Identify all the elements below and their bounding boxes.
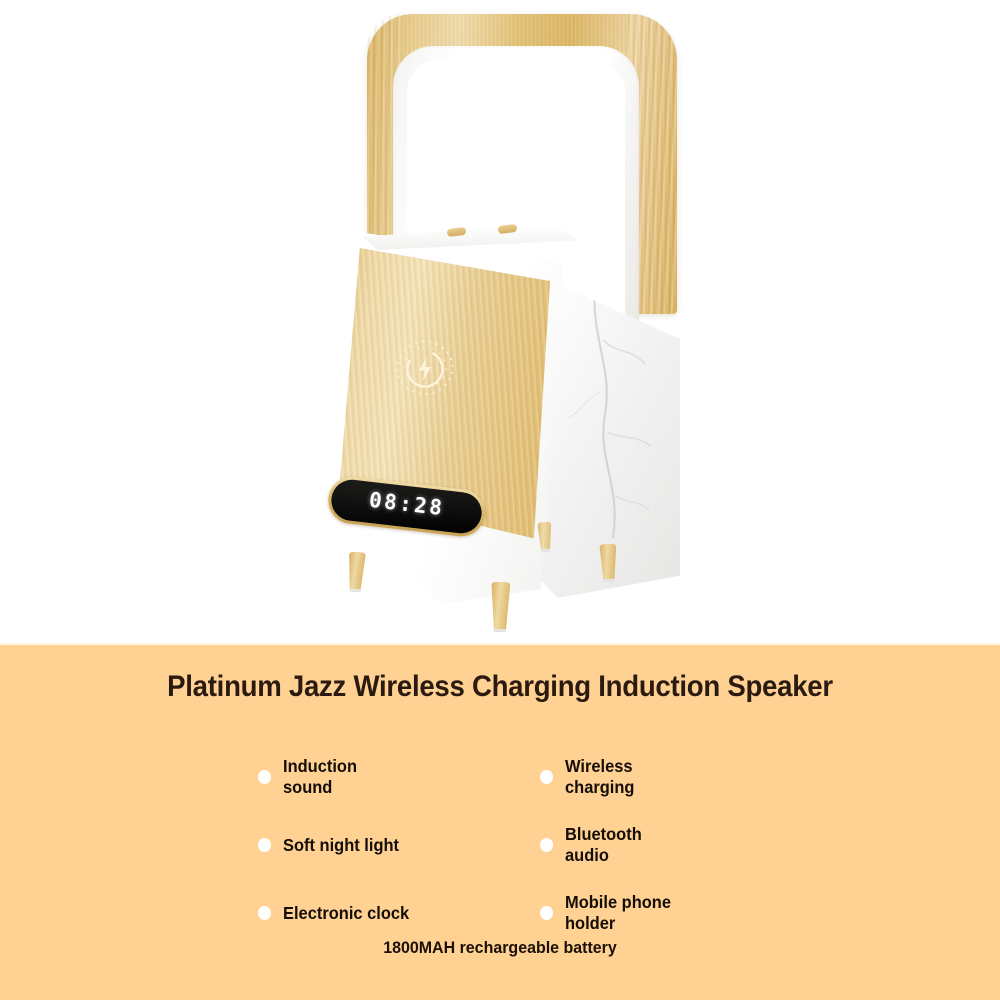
battery-note: 1800MAH rechargeable battery — [30, 938, 970, 958]
bullet-icon — [258, 770, 271, 784]
leg-front-center — [491, 582, 511, 632]
feature-item-soft-night-light: Soft night light — [258, 811, 536, 879]
feature-label: Mobile phone holder — [565, 892, 671, 933]
feature-item-mobile-phone-holder: Mobile phone holder — [540, 879, 818, 947]
bullet-icon — [258, 838, 271, 852]
feature-item-induction-sound: Induction sound — [258, 743, 536, 811]
product-listing-image: 08:28 Platinum Jazz Wireless Charging In… — [0, 0, 1000, 1000]
feature-item-wireless-charging: Wireless charging — [540, 743, 818, 811]
feature-label: Induction sound — [283, 756, 357, 797]
leg-front-left — [347, 552, 366, 593]
feature-item-bluetooth-audio: Bluetooth audio — [540, 811, 818, 879]
bullet-icon — [540, 906, 553, 920]
feature-item-electronic-clock: Electronic clock — [258, 879, 536, 947]
feature-label: Wireless charging — [565, 756, 634, 797]
bullet-icon — [540, 838, 553, 852]
bullet-icon — [258, 906, 271, 920]
product-title: Platinum Jazz Wireless Charging Inductio… — [40, 670, 960, 704]
info-panel: Platinum Jazz Wireless Charging Inductio… — [0, 643, 1000, 1000]
bullet-icon — [540, 770, 553, 784]
wireless-charging-icon — [388, 332, 463, 407]
feature-list: Induction sound Wireless charging Soft n… — [258, 743, 818, 947]
feature-label: Bluetooth audio — [565, 824, 642, 865]
feature-label: Soft night light — [283, 835, 399, 856]
feature-label: Electronic clock — [283, 903, 409, 924]
speaker-body: 08:28 — [295, 222, 695, 622]
product-photo: 08:28 — [0, 0, 1000, 643]
